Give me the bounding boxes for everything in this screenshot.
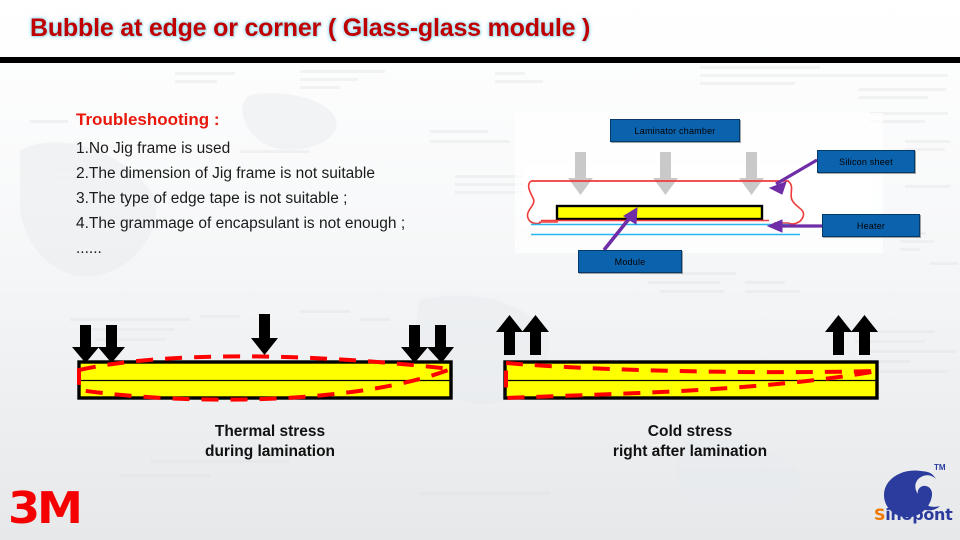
down-arrow-mid [251,314,278,355]
sinopont-initial: S [874,505,885,524]
label-laminator-chamber: Laminator chamber [610,119,740,142]
cold-deformation-outline [506,363,877,398]
caption-thermal-line1: Thermal stress [100,422,440,442]
sinopont-rest: inopont [885,505,952,524]
caption-thermal-stress: Thermal stress during lamination [100,422,440,462]
down-arrow-l1 [72,325,99,363]
troubleshooting-heading: Troubleshooting : [76,110,496,130]
cold-stress-panel [496,315,878,398]
troubleshooting-item-1: 1.No Jig frame is used [76,136,496,161]
label-silicon-sheet: Silicon sheet [817,150,915,173]
thermal-stress-panel [72,314,454,400]
label-module: Module [578,250,682,273]
up-arrow-r1 [825,315,852,355]
down-arrow-l2 [98,325,125,363]
caption-cold-line2: right after lamination [520,442,860,462]
slide-canvas: Bubble at edge or corner ( Glass-glass m… [0,0,960,540]
troubleshooting-item-2: 2.The dimension of Jig frame is not suit… [76,161,496,186]
sinopont-tm-mark: TM [934,463,946,472]
page-title: Bubble at edge or corner ( Glass-glass m… [30,14,590,43]
troubleshooting-item-4: 4.The grammage of encapsulant is not eno… [76,211,496,236]
thermal-deformation-outline [79,356,451,399]
caption-thermal-line2: during lamination [100,442,440,462]
down-arrow-r2 [427,325,454,363]
logo-3m: 3M [8,487,80,531]
troubleshooting-item-3: 3.The type of edge tape is not suitable … [76,186,496,211]
up-arrow-r2 [851,315,878,355]
thermal-module-body [79,362,451,398]
caption-cold-stress: Cold stress right after lamination [520,422,860,462]
troubleshooting-block: Troubleshooting : 1.No Jig frame is used… [76,110,496,261]
header-divider-rule [0,57,960,63]
down-arrow-r1 [401,325,428,363]
up-arrow-l1 [496,315,523,355]
caption-cold-line1: Cold stress [520,422,860,442]
cold-module-body [505,362,877,398]
up-arrow-l2 [522,315,549,355]
laminator-chamber-interior [523,165,873,227]
troubleshooting-item-ellipsis: ...... [76,236,496,261]
label-heater: Heater [822,214,920,237]
thermal-down-arrows [72,314,454,363]
logo-sinopont-wordmark: Sinopont [874,505,960,524]
cold-up-arrows [496,315,878,355]
